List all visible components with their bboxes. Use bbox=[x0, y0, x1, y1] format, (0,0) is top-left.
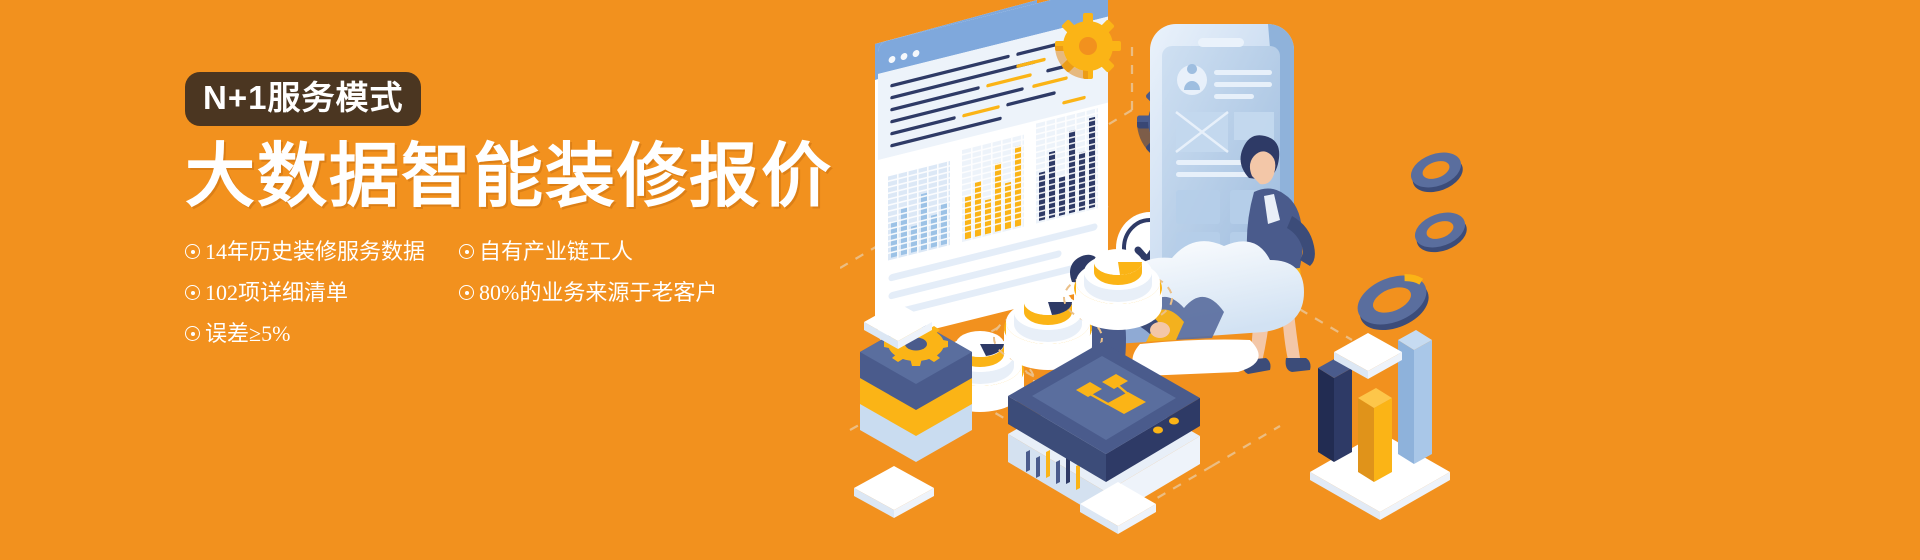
floating-tile-1 bbox=[854, 466, 934, 518]
bar-navy bbox=[1318, 358, 1352, 462]
feature-bullets: 14年历史装修服务数据 102项详细清单 误差≥5% 自有产业链工人 bbox=[185, 240, 865, 347]
woman-shoe-right bbox=[1286, 358, 1311, 372]
banner-copy: N+1服务模式 大数据智能装修报价 14年历史装修服务数据 102项详细清单 误… bbox=[185, 72, 865, 346]
gear-orange bbox=[1055, 13, 1130, 79]
promo-banner: N+1服务模式 大数据智能装修报价 14年历史装修服务数据 102项详细清单 误… bbox=[0, 0, 1920, 560]
man-hand bbox=[1150, 322, 1170, 338]
bullet-label: 自有产业链工人 bbox=[479, 240, 633, 264]
image-placeholder-icon bbox=[1176, 112, 1228, 152]
dotted-bar-chart-orange bbox=[962, 135, 1024, 242]
bullet-label: 14年历史装修服务数据 bbox=[205, 240, 425, 264]
bullet-item: 误差≥5% bbox=[185, 322, 435, 346]
bullet-item: 102项详细清单 bbox=[185, 281, 435, 305]
bullet-item: 14年历史装修服务数据 bbox=[185, 240, 435, 264]
circled-dot-icon bbox=[185, 244, 200, 259]
bullet-label: 80%的业务来源于老客户 bbox=[479, 281, 717, 305]
bullet-item: 自有产业链工人 bbox=[459, 240, 717, 264]
circled-dot-icon bbox=[185, 285, 200, 300]
bullet-item: 80%的业务来源于老客户 bbox=[459, 281, 717, 305]
service-mode-badge: N+1服务模式 bbox=[185, 72, 421, 126]
bullet-column-right: 自有产业链工人 80%的业务来源于老客户 bbox=[459, 240, 717, 347]
torus-ring bbox=[1350, 266, 1435, 339]
bullet-column-left: 14年历史装修服务数据 102项详细清单 误差≥5% bbox=[185, 240, 435, 347]
bullet-label: 误差≥5% bbox=[205, 322, 290, 346]
circled-dot-icon bbox=[459, 244, 474, 259]
torus-ring-small bbox=[1406, 146, 1468, 199]
bar-light-blue bbox=[1398, 330, 1432, 464]
circled-dot-icon bbox=[185, 326, 200, 341]
hex-stack-with-gear bbox=[860, 320, 972, 462]
phone-notch bbox=[1198, 38, 1244, 47]
isometric-illustration bbox=[840, 0, 1920, 560]
bar-orange bbox=[1358, 388, 1392, 482]
dotted-bar-chart-navy bbox=[1036, 108, 1098, 223]
circled-dot-icon bbox=[459, 285, 474, 300]
torus-ring-small-2 bbox=[1410, 206, 1472, 259]
banner-headline: 大数据智能装修报价 bbox=[185, 140, 865, 214]
bullet-label: 102项详细清单 bbox=[205, 281, 348, 305]
dotted-bar-chart-light-blue bbox=[888, 161, 950, 260]
